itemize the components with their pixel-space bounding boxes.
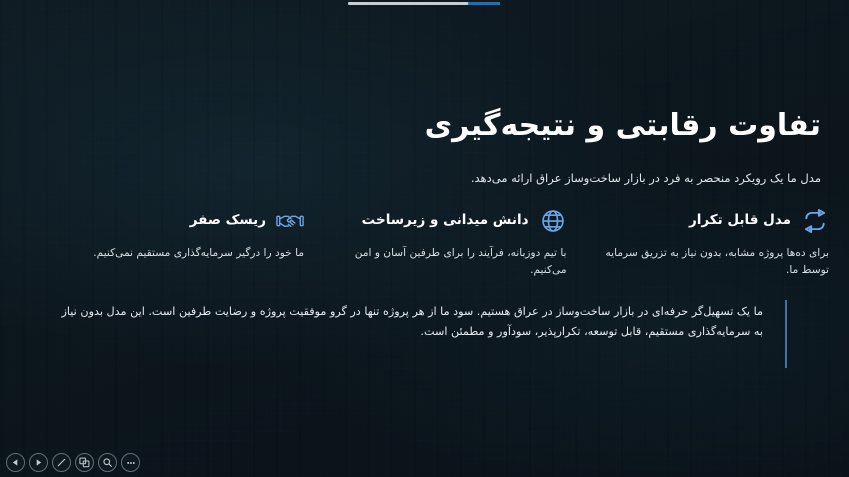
slide-progress-bar[interactable]	[348, 2, 500, 5]
presentation-slide: تفاوت رقابتی و نتیجه‌گیری مدل ما یک رویک…	[0, 0, 849, 477]
pen-tool-button[interactable]	[52, 453, 71, 472]
triangle-right-icon	[34, 458, 43, 467]
pen-icon	[56, 457, 67, 468]
globe-icon	[539, 207, 567, 235]
page-title: تفاوت رقابتی و نتیجه‌گیری	[221, 107, 821, 145]
callout-accent-bar	[785, 300, 787, 368]
conclusion-callout: ما یک تسهیل‌گر حرفه‌ای در بازار ساخت‌وسا…	[50, 300, 787, 368]
grid-slides-icon	[79, 457, 90, 468]
slide-subtitle: مدل ما یک رویکرد منحصر به فرد در بازار س…	[181, 170, 821, 187]
slide-progress-fill	[468, 2, 500, 5]
previous-slide-button[interactable]	[6, 453, 25, 472]
feature-title: دانش میدانی و زیرساخت	[362, 212, 529, 230]
slide-overview-button[interactable]	[75, 453, 94, 472]
feature-card-field-knowledge: دانش میدانی و زیرساخت با تیم دوزبانه، فر…	[315, 206, 567, 279]
conclusion-text: ما یک تسهیل‌گر حرفه‌ای در بازار ساخت‌وسا…	[50, 300, 785, 368]
zoom-button[interactable]	[98, 453, 117, 472]
feature-header: ریسک صفر	[52, 206, 304, 236]
feature-description: ما خود را درگیر سرمایه‌گذاری مستقیم نمی‌…	[52, 245, 304, 262]
feature-title: ریسک صفر	[190, 212, 266, 230]
handshake-icon	[276, 207, 304, 235]
magnifier-icon	[102, 457, 113, 468]
ellipsis-icon	[125, 457, 137, 469]
feature-columns: مدل قابل تکرار برای ده‌ها پروژه مشابه، ب…	[52, 206, 829, 279]
triangle-left-icon	[11, 458, 20, 467]
feature-title: مدل قابل تکرار	[689, 212, 791, 230]
feature-header: مدل قابل تکرار	[577, 206, 829, 236]
feature-description: با تیم دوزبانه، فرآیند را برای طرفین آسا…	[315, 245, 567, 279]
feature-description: برای ده‌ها پروژه مشابه، بدون نیاز به تزر…	[577, 245, 829, 279]
next-slide-button[interactable]	[29, 453, 48, 472]
slide-content: تفاوت رقابتی و نتیجه‌گیری مدل ما یک رویک…	[0, 0, 849, 477]
feature-card-repeatable-model: مدل قابل تکرار برای ده‌ها پروژه مشابه، ب…	[577, 206, 829, 279]
feature-card-zero-risk: ریسک صفر ما خود را درگیر سرمایه‌گذاری مس…	[52, 206, 304, 279]
presenter-toolbar	[6, 453, 140, 472]
feature-header: دانش میدانی و زیرساخت	[315, 206, 567, 236]
repeat-arrows-icon	[801, 207, 829, 235]
more-options-button[interactable]	[121, 453, 140, 472]
